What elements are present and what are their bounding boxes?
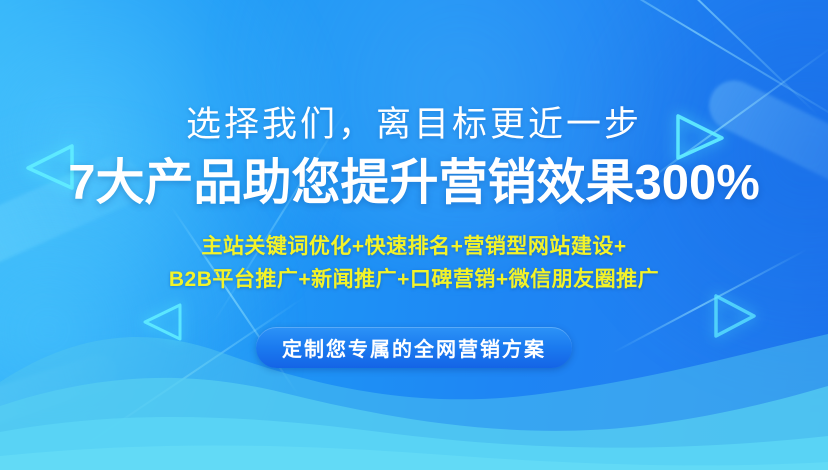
- marketing-banner: 选择我们，离目标更近一步 7大产品助您提升营销效果300% 主站关键词优化+快速…: [0, 0, 828, 470]
- banner-headline: 7大产品助您提升营销效果300%: [68, 158, 760, 209]
- cta-button[interactable]: 定制您专属的全网营销方案: [256, 327, 572, 368]
- banner-tagline: 选择我们，离目标更近一步: [186, 104, 642, 146]
- service-list: 主站关键词优化+快速排名+营销型网站建设+ B2B平台推广+新闻推广+口碑营销+…: [169, 231, 659, 296]
- service-line-1: 主站关键词优化+快速排名+营销型网站建设+: [169, 231, 659, 264]
- service-line-2: B2B平台推广+新闻推广+口碑营销+微信朋友圈推广: [169, 264, 659, 297]
- banner-content: 选择我们，离目标更近一步 7大产品助您提升营销效果300% 主站关键词优化+快速…: [0, 0, 828, 470]
